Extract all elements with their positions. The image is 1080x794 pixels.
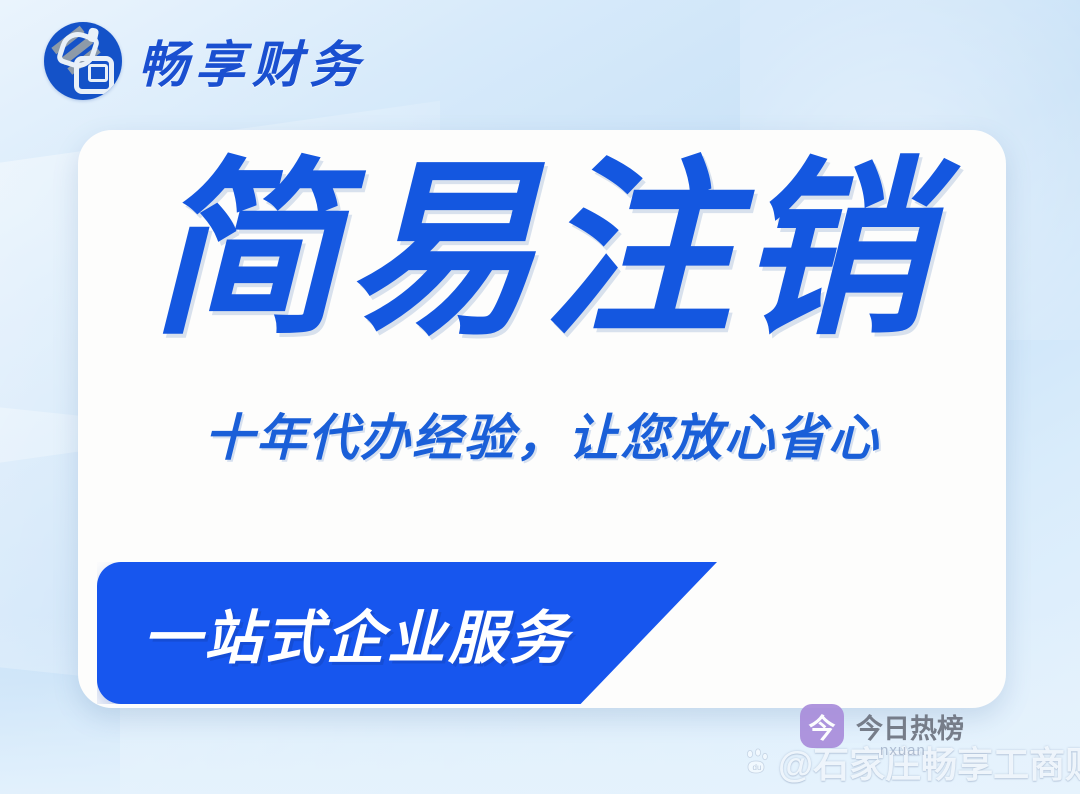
account-watermark-text: @石家庄畅享工商财务 — [778, 736, 1080, 788]
baidu-paw-icon: du — [742, 747, 772, 777]
account-watermark-faint-text: nxuan — [880, 742, 926, 759]
poster-canvas: 畅享财务 简易注销 十年代办经验，让您放心省心 一站式企业服务 今 今日热榜 d… — [0, 0, 1080, 794]
service-banner-label: 一站式企业服务 — [143, 591, 570, 675]
company-seal-circle-icon — [44, 22, 122, 100]
brand-header: 畅享财务 — [44, 22, 366, 100]
page-subtitle: 十年代办经验，让您放心省心 — [204, 398, 880, 470]
page-title: 简易注销 — [150, 156, 934, 346]
brand-name: 畅享财务 — [138, 25, 366, 97]
svg-text:du: du — [753, 763, 762, 772]
